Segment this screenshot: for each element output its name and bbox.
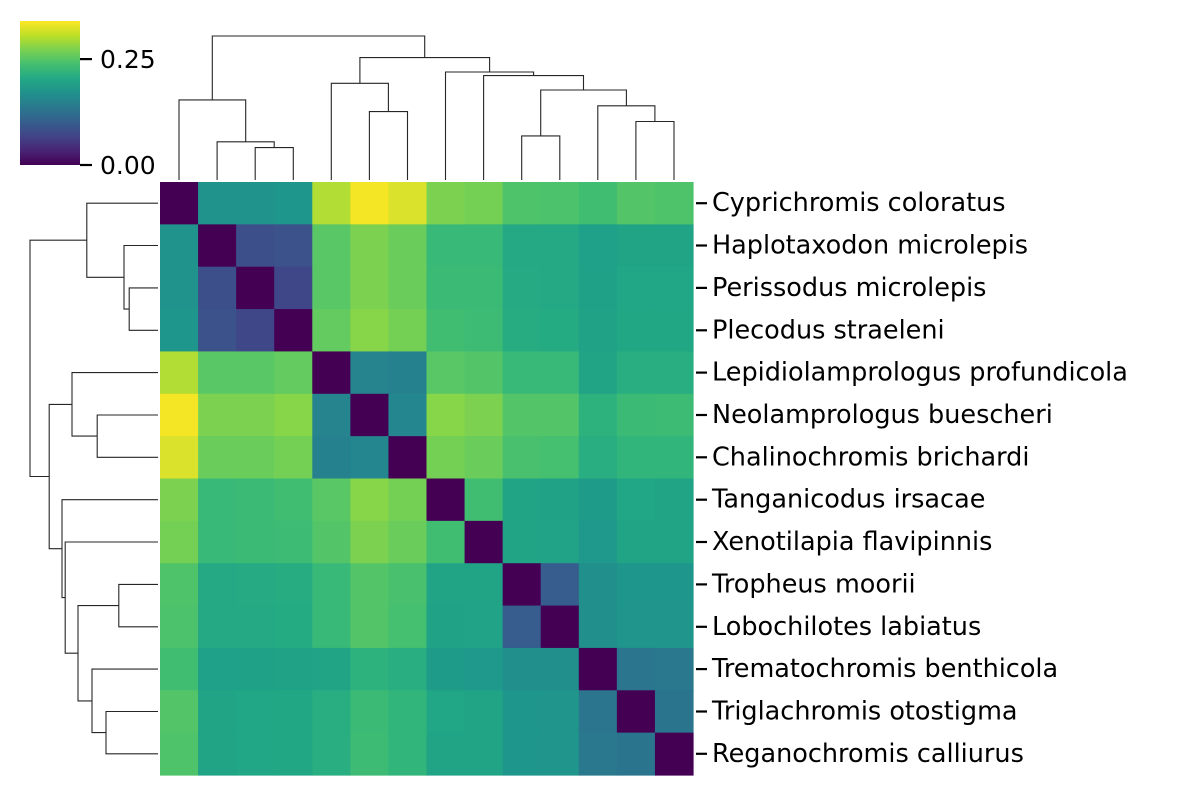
heatmap-cell[interactable] (198, 648, 237, 691)
heatmap-cell[interactable] (236, 182, 275, 225)
heatmap-cell[interactable] (465, 606, 504, 649)
colorbar-gradient (20, 21, 80, 165)
heatmap-cell[interactable] (655, 224, 694, 267)
heatmap-cell[interactable] (274, 648, 313, 691)
heatmap-cell[interactable] (350, 309, 389, 352)
heatmap-cell[interactable] (388, 648, 427, 691)
heatmap-cell[interactable] (350, 182, 389, 225)
heatmap-cell[interactable] (503, 648, 542, 691)
heatmap-cell[interactable] (350, 394, 389, 437)
heatmap-cell[interactable] (503, 563, 542, 606)
heatmap-cell[interactable] (312, 182, 351, 225)
heatmap-cell[interactable] (617, 351, 656, 394)
heatmap-cell[interactable] (655, 479, 694, 522)
heatmap-cell[interactable] (465, 436, 504, 479)
heatmap-cell[interactable] (236, 606, 275, 649)
heatmap-cell[interactable] (350, 733, 389, 776)
heatmap-cell[interactable] (350, 479, 389, 522)
heatmap-cell[interactable] (427, 479, 466, 522)
heatmap-cell[interactable] (160, 182, 199, 225)
heatmap-cell[interactable] (503, 224, 542, 267)
heatmap-cell[interactable] (236, 351, 275, 394)
heatmap-cell[interactable] (427, 309, 466, 352)
heatmap-cell[interactable] (160, 394, 199, 437)
heatmap-cell[interactable] (160, 267, 199, 310)
heatmap-cell[interactable] (350, 351, 389, 394)
heatmap-cell[interactable] (274, 521, 313, 564)
heatmap-cell[interactable] (312, 351, 351, 394)
heatmap-cell[interactable] (388, 563, 427, 606)
heatmap-cell[interactable] (465, 182, 504, 225)
heatmap-cell[interactable] (160, 733, 199, 776)
heatmap-cell[interactable] (274, 394, 313, 437)
heatmap-cell[interactable] (579, 479, 618, 522)
heatmap-cell[interactable] (617, 479, 656, 522)
heatmap-cell[interactable] (503, 351, 542, 394)
heatmap-cell[interactable] (503, 479, 542, 522)
heatmap-cell[interactable] (388, 182, 427, 225)
heatmap-cell[interactable] (312, 436, 351, 479)
heatmap-cell[interactable] (541, 394, 580, 437)
heatmap-cell[interactable] (541, 309, 580, 352)
clustermap-figure: 0.250.00 Cyprichromis coloratusHaplotaxo… (0, 0, 1184, 793)
heatmap-cell[interactable] (655, 309, 694, 352)
heatmap-cell[interactable] (160, 648, 199, 691)
heatmap-cell[interactable] (312, 309, 351, 352)
heatmap-cell[interactable] (465, 224, 504, 267)
heatmap-cell[interactable] (274, 733, 313, 776)
heatmap-cell[interactable] (236, 521, 275, 564)
heatmap-cell[interactable] (465, 267, 504, 310)
heatmap-cell[interactable] (465, 563, 504, 606)
heatmap-cell[interactable] (312, 648, 351, 691)
heatmap-cell[interactable] (312, 606, 351, 649)
heatmap-cell[interactable] (198, 351, 237, 394)
heatmap-cell[interactable] (579, 436, 618, 479)
heatmap-cell[interactable] (427, 648, 466, 691)
heatmap-cell[interactable] (579, 563, 618, 606)
heatmap-cell[interactable] (579, 182, 618, 225)
heatmap-cell[interactable] (579, 648, 618, 691)
heatmap-cell[interactable] (503, 309, 542, 352)
heatmap-cell[interactable] (388, 733, 427, 776)
row-label: Triglachromis otostigma (711, 697, 1018, 727)
heatmap-cell[interactable] (541, 521, 580, 564)
heatmap-cell[interactable] (198, 267, 237, 310)
row-label: Trematochromis benthicola (711, 654, 1058, 684)
heatmap-cell[interactable] (503, 436, 542, 479)
heatmap-cell[interactable] (503, 521, 542, 564)
heatmap-cell[interactable] (274, 690, 313, 733)
heatmap-cell[interactable] (274, 224, 313, 267)
heatmap-cell[interactable] (465, 521, 504, 564)
heatmap-cell[interactable] (388, 606, 427, 649)
heatmap-cell[interactable] (655, 648, 694, 691)
heatmap-cell[interactable] (617, 690, 656, 733)
heatmap-cell[interactable] (274, 309, 313, 352)
heatmap-cell[interactable] (617, 521, 656, 564)
heatmap-cell[interactable] (198, 309, 237, 352)
heatmap-cell[interactable] (350, 521, 389, 564)
heatmap-cell[interactable] (388, 690, 427, 733)
heatmap-cell[interactable] (655, 606, 694, 649)
row-label: Tropheus moorii (711, 569, 916, 599)
heatmap-cell[interactable] (160, 351, 199, 394)
heatmap-cell[interactable] (465, 690, 504, 733)
heatmap-cell[interactable] (350, 267, 389, 310)
heatmap-cell[interactable] (236, 394, 275, 437)
heatmap-cell[interactable] (427, 690, 466, 733)
heatmap-cell[interactable] (427, 436, 466, 479)
heatmap-cell[interactable] (427, 563, 466, 606)
heatmap-cell[interactable] (388, 351, 427, 394)
heatmap-cell[interactable] (160, 309, 199, 352)
heatmap-cell[interactable] (541, 606, 580, 649)
heatmap-cell[interactable] (541, 182, 580, 225)
heatmap-cell[interactable] (274, 479, 313, 522)
row-label: Lobochilotes labiatus (712, 612, 981, 642)
heatmap-cell[interactable] (312, 224, 351, 267)
colorbar-tick-label: 0.00 (100, 151, 156, 180)
heatmap-cell[interactable] (465, 309, 504, 352)
heatmap-cell[interactable] (617, 436, 656, 479)
heatmap-cell[interactable] (541, 436, 580, 479)
heatmap-cell[interactable] (160, 521, 199, 564)
heatmap-cell[interactable] (274, 182, 313, 225)
heatmap-cell[interactable] (427, 267, 466, 310)
heatmap-cell[interactable] (274, 606, 313, 649)
heatmap-cell[interactable] (579, 690, 618, 733)
heatmap-cell[interactable] (350, 563, 389, 606)
heatmap-cell[interactable] (579, 309, 618, 352)
heatmap-cell[interactable] (503, 267, 542, 310)
heatmap-cell[interactable] (617, 606, 656, 649)
heatmap-cell[interactable] (236, 224, 275, 267)
heatmap-cell[interactable] (617, 224, 656, 267)
heatmap-cell[interactable] (655, 394, 694, 437)
colorbar-tick-label: 0.25 (100, 45, 156, 74)
heatmap-cell[interactable] (541, 351, 580, 394)
heatmap-cell[interactable] (617, 394, 656, 437)
heatmap-cell[interactable] (236, 733, 275, 776)
heatmap-cell[interactable] (427, 733, 466, 776)
heatmap-cell[interactable] (541, 690, 580, 733)
heatmap-cell[interactable] (236, 436, 275, 479)
heatmap-cell[interactable] (312, 479, 351, 522)
heatmap-cell[interactable] (617, 563, 656, 606)
heatmap-cell[interactable] (198, 563, 237, 606)
heatmap-cell[interactable] (388, 521, 427, 564)
heatmap-cell[interactable] (427, 182, 466, 225)
heatmap-cell[interactable] (350, 606, 389, 649)
heatmap-cell[interactable] (465, 394, 504, 437)
heatmap-cell[interactable] (579, 521, 618, 564)
heatmap-cell[interactable] (541, 267, 580, 310)
heatmap-cell[interactable] (655, 521, 694, 564)
heatmap-cell[interactable] (236, 479, 275, 522)
heatmap-cell[interactable] (655, 267, 694, 310)
heatmap-cell[interactable] (541, 224, 580, 267)
heatmap-cell[interactable] (617, 309, 656, 352)
heatmap-cell[interactable] (198, 733, 237, 776)
heatmap-cell[interactable] (312, 733, 351, 776)
heatmap-cell[interactable] (579, 224, 618, 267)
heatmap-cell[interactable] (350, 436, 389, 479)
heatmap-cell[interactable] (427, 394, 466, 437)
heatmap-cell[interactable] (388, 267, 427, 310)
heatmap-cell[interactable] (160, 436, 199, 479)
heatmap-cell[interactable] (198, 436, 237, 479)
heatmap-cell[interactable] (655, 182, 694, 225)
heatmap-cell[interactable] (388, 479, 427, 522)
heatmap-cell[interactable] (160, 563, 199, 606)
heatmap-cell[interactable] (312, 521, 351, 564)
heatmap-cell[interactable] (579, 351, 618, 394)
heatmap-cell[interactable] (655, 436, 694, 479)
heatmap-cell[interactable] (160, 224, 199, 267)
heatmap-cell[interactable] (236, 563, 275, 606)
heatmap-cell[interactable] (655, 690, 694, 733)
heatmap-cell[interactable] (350, 224, 389, 267)
heatmap-cell[interactable] (236, 267, 275, 310)
heatmap-cell[interactable] (312, 690, 351, 733)
row-label: Lepidiolamprologus profundicola (712, 358, 1128, 388)
heatmap-cell[interactable] (655, 351, 694, 394)
heatmap-cell[interactable] (617, 267, 656, 310)
heatmap-cell[interactable] (274, 436, 313, 479)
heatmap-cell[interactable] (198, 479, 237, 522)
clustermap-canvas: 0.250.00 Cyprichromis coloratusHaplotaxo… (0, 0, 1184, 793)
heatmap-cell[interactable] (541, 479, 580, 522)
heatmap-cell[interactable] (579, 606, 618, 649)
heatmap-cell[interactable] (617, 733, 656, 776)
heatmap-cell[interactable] (503, 394, 542, 437)
heatmap-cell[interactable] (160, 606, 199, 649)
heatmap-grid[interactable] (160, 182, 694, 776)
heatmap-cell[interactable] (198, 521, 237, 564)
heatmap-cell[interactable] (465, 733, 504, 776)
heatmap-cell[interactable] (388, 309, 427, 352)
heatmap-cell[interactable] (617, 182, 656, 225)
heatmap-cell[interactable] (427, 224, 466, 267)
heatmap-cell[interactable] (350, 690, 389, 733)
heatmap-cell[interactable] (427, 351, 466, 394)
heatmap-cell[interactable] (160, 690, 199, 733)
heatmap-cell[interactable] (541, 563, 580, 606)
heatmap-cell[interactable] (655, 733, 694, 776)
heatmap-cell[interactable] (312, 394, 351, 437)
heatmap-cell[interactable] (236, 648, 275, 691)
heatmap-cell[interactable] (350, 648, 389, 691)
heatmap-cell[interactable] (465, 351, 504, 394)
heatmap-cell[interactable] (388, 224, 427, 267)
row-label: Neolamprologus buescheri (712, 400, 1053, 430)
row-label: Chalinochromis brichardi (712, 442, 1029, 472)
heatmap-cell[interactable] (274, 267, 313, 310)
row-label: Plecodus straeleni (712, 315, 945, 345)
heatmap-cell[interactable] (655, 563, 694, 606)
row-label: Xenotilapia flavipinnis (712, 527, 992, 557)
heatmap-cell[interactable] (236, 690, 275, 733)
heatmap-cell[interactable] (236, 309, 275, 352)
heatmap-cell[interactable] (579, 733, 618, 776)
heatmap-cell[interactable] (541, 733, 580, 776)
heatmap-cell[interactable] (465, 479, 504, 522)
heatmap-cell[interactable] (503, 182, 542, 225)
heatmap-cell[interactable] (465, 648, 504, 691)
heatmap-cell[interactable] (617, 648, 656, 691)
heatmap-cell[interactable] (198, 182, 237, 225)
heatmap-cell[interactable] (274, 351, 313, 394)
heatmap-cell[interactable] (388, 436, 427, 479)
heatmap-cell[interactable] (198, 606, 237, 649)
heatmap-cell[interactable] (388, 394, 427, 437)
heatmap-cell[interactable] (579, 267, 618, 310)
row-label: Perissodus microlepis (712, 273, 986, 303)
heatmap-cell[interactable] (198, 224, 237, 267)
row-label: Reganochromis calliurus (712, 739, 1024, 769)
heatmap-cell[interactable] (274, 563, 313, 606)
heatmap-cell[interactable] (427, 521, 466, 564)
row-label: Tanganicodus irsacae (711, 485, 985, 515)
heatmap-cell[interactable] (541, 648, 580, 691)
heatmap-cell[interactable] (503, 606, 542, 649)
row-label: Haplotaxodon microlepis (712, 231, 1028, 261)
heatmap-cell[interactable] (503, 733, 542, 776)
heatmap-cell[interactable] (312, 267, 351, 310)
row-label: Cyprichromis coloratus (712, 188, 1006, 218)
heatmap-cell[interactable] (160, 479, 199, 522)
heatmap-cell[interactable] (198, 690, 237, 733)
heatmap-cell[interactable] (198, 394, 237, 437)
heatmap-cell[interactable] (579, 394, 618, 437)
heatmap-cell[interactable] (503, 690, 542, 733)
heatmap-cell[interactable] (312, 563, 351, 606)
heatmap-cell[interactable] (427, 606, 466, 649)
